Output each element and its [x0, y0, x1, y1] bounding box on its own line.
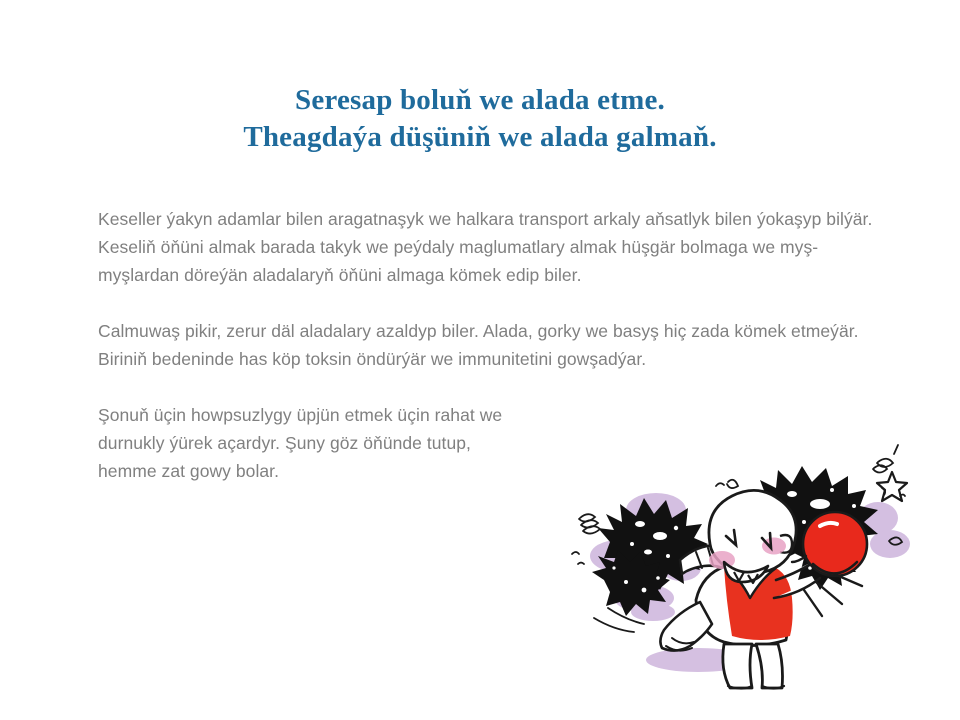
paragraph-2: Calmuwaş pikir, zerur däl aladalary azal…	[98, 317, 888, 373]
title-line-1: Seresap boluň we alada etme.	[0, 82, 960, 119]
stress-punching-illustration	[548, 432, 948, 694]
blush-right	[762, 538, 786, 555]
sparkle-star-icon	[877, 472, 907, 501]
paragraph-3: Şonuň üçin howpsuzlygy üpjün etmek üçin …	[98, 401, 518, 485]
title-line-2: Theagdaýa düşüniň we alada galmaň.	[0, 119, 960, 156]
slide-page: Seresap boluň we alada etme. Theagdaýa d…	[0, 0, 960, 720]
page-title: Seresap boluň we alada etme. Theagdaýa d…	[0, 82, 960, 156]
paragraph-1: Keseller ýakyn adamlar bilen aragatnaşyk…	[98, 205, 888, 289]
